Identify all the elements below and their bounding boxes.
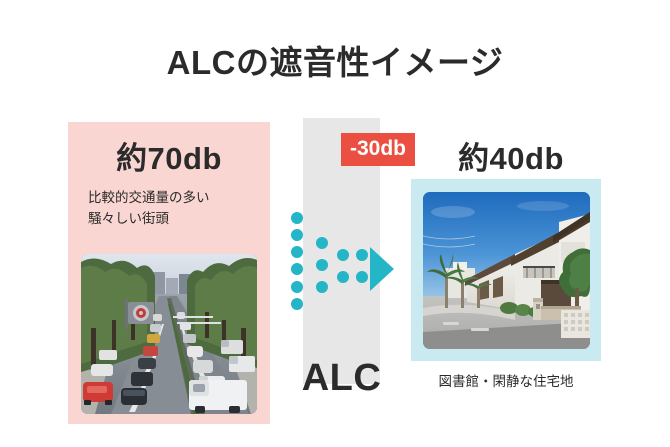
quiet-decibel-label: 約40db xyxy=(421,133,601,178)
sound-dot xyxy=(316,281,328,293)
page-title: ALCの遮音性イメージ xyxy=(0,36,670,84)
sound-dot xyxy=(337,249,349,261)
quiet-caption: 図書館・閑静な住宅地 xyxy=(411,370,601,390)
sound-dot xyxy=(356,271,368,283)
alc-wall-label: ALC xyxy=(285,357,398,400)
sound-dot xyxy=(316,237,328,249)
quiet-residential-houses-photo xyxy=(423,192,590,349)
sound-dot xyxy=(291,229,303,241)
sound-dot xyxy=(337,271,349,283)
reduction-badge: -30db xyxy=(341,133,415,166)
sound-direction-arrow-icon xyxy=(370,247,394,291)
sound-dot xyxy=(291,298,303,310)
sound-dot xyxy=(291,246,303,258)
loud-description: 比較的交通量の多い 騒々しい街頭 xyxy=(88,188,270,230)
sound-dot xyxy=(356,249,368,261)
busy-traffic-street-illustration xyxy=(81,254,257,414)
loud-decibel-label: 約70db xyxy=(68,133,270,178)
sound-dot xyxy=(316,259,328,271)
quiet-residential-illustration xyxy=(423,192,590,349)
sound-dot xyxy=(291,281,303,293)
sound-dot xyxy=(291,212,303,224)
loud-description-line-1: 比較的交通量の多い xyxy=(88,188,270,209)
loud-description-line-2: 騒々しい街頭 xyxy=(88,209,270,230)
sound-dot xyxy=(291,263,303,275)
busy-traffic-street-photo xyxy=(81,254,257,414)
infographic-canvas: ALCの遮音性イメージ 約70db 比較的交通量の多い 騒々しい街頭 xyxy=(0,0,670,447)
